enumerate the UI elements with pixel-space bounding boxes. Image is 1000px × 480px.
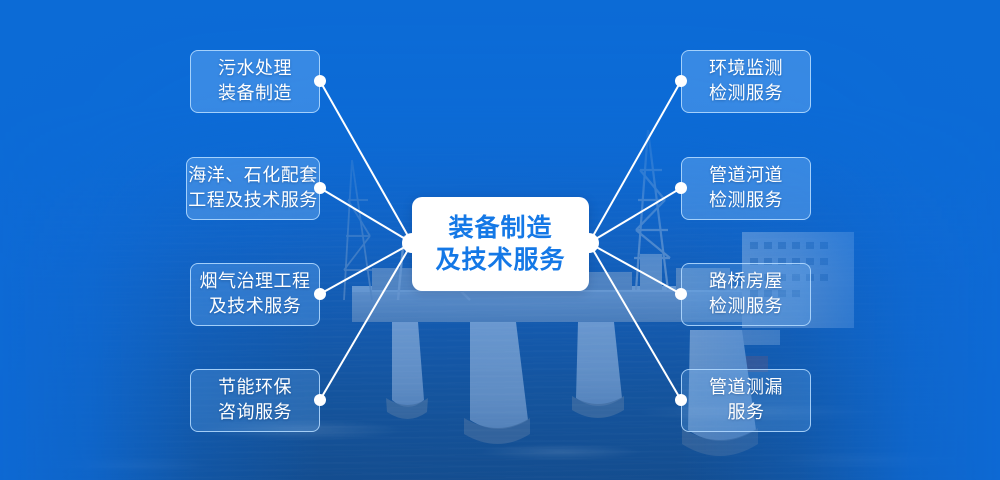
node-pipeline-river-inspection[interactable]: 管道河道 检测服务 xyxy=(681,157,811,220)
node-marine-petrochemical-line1: 海洋、石化配套 xyxy=(188,164,318,189)
node-flue-gas-treatment-line1: 烟气治理工程 xyxy=(200,270,311,295)
connector-hub-right-icon xyxy=(579,233,599,253)
node-pipeline-leak-detection-line2: 服务 xyxy=(728,401,765,426)
node-environmental-monitoring[interactable]: 环境监测 检测服务 xyxy=(681,50,811,113)
connector-dot-marine-icon xyxy=(314,182,326,194)
node-environmental-monitoring-line1: 环境监测 xyxy=(709,57,783,82)
connector-dot-wastewater-icon xyxy=(314,75,326,87)
infographic-canvas: 装备制造 及技术服务 污水处理 装备制造 海洋、石化配套 工程及技术服务 烟气治… xyxy=(0,0,1000,480)
center-node-line1: 装备制造 xyxy=(448,212,552,245)
connector-dot-pipelineleak-icon xyxy=(675,394,687,406)
node-pipeline-leak-detection-line1: 管道测漏 xyxy=(709,376,783,401)
connector-dot-bridgebuilding-icon xyxy=(675,288,687,300)
node-marine-petrochemical-line2: 工程及技术服务 xyxy=(188,189,318,214)
node-pipeline-river-inspection-line1: 管道河道 xyxy=(709,164,783,189)
node-flue-gas-treatment[interactable]: 烟气治理工程 及技术服务 xyxy=(190,263,320,326)
node-wastewater-equipment[interactable]: 污水处理 装备制造 xyxy=(190,50,320,113)
node-bridge-building-inspection[interactable]: 路桥房屋 检测服务 xyxy=(681,263,811,326)
node-wastewater-equipment-line2: 装备制造 xyxy=(218,82,292,107)
node-flue-gas-treatment-line2: 及技术服务 xyxy=(209,295,302,320)
connector-dot-fluegas-icon xyxy=(314,288,326,300)
node-pipeline-river-inspection-line2: 检测服务 xyxy=(709,189,783,214)
node-wastewater-equipment-line1: 污水处理 xyxy=(218,57,292,82)
connector-dot-pipelineriver-icon xyxy=(675,182,687,194)
center-node[interactable]: 装备制造 及技术服务 xyxy=(412,197,589,291)
connector-dot-energysaving-icon xyxy=(314,394,326,406)
node-energy-saving-line1: 节能环保 xyxy=(218,376,292,401)
node-energy-saving-line2: 咨询服务 xyxy=(218,401,292,426)
node-marine-petrochemical[interactable]: 海洋、石化配套 工程及技术服务 xyxy=(186,157,320,220)
center-node-line2: 及技术服务 xyxy=(435,244,565,277)
node-bridge-building-inspection-line2: 检测服务 xyxy=(709,295,783,320)
node-energy-saving[interactable]: 节能环保 咨询服务 xyxy=(190,369,320,432)
node-environmental-monitoring-line2: 检测服务 xyxy=(709,82,783,107)
node-bridge-building-inspection-line1: 路桥房屋 xyxy=(709,270,783,295)
node-pipeline-leak-detection[interactable]: 管道测漏 服务 xyxy=(681,369,811,432)
connector-dot-envmonitor-icon xyxy=(675,75,687,87)
connector-hub-left-icon xyxy=(402,233,422,253)
